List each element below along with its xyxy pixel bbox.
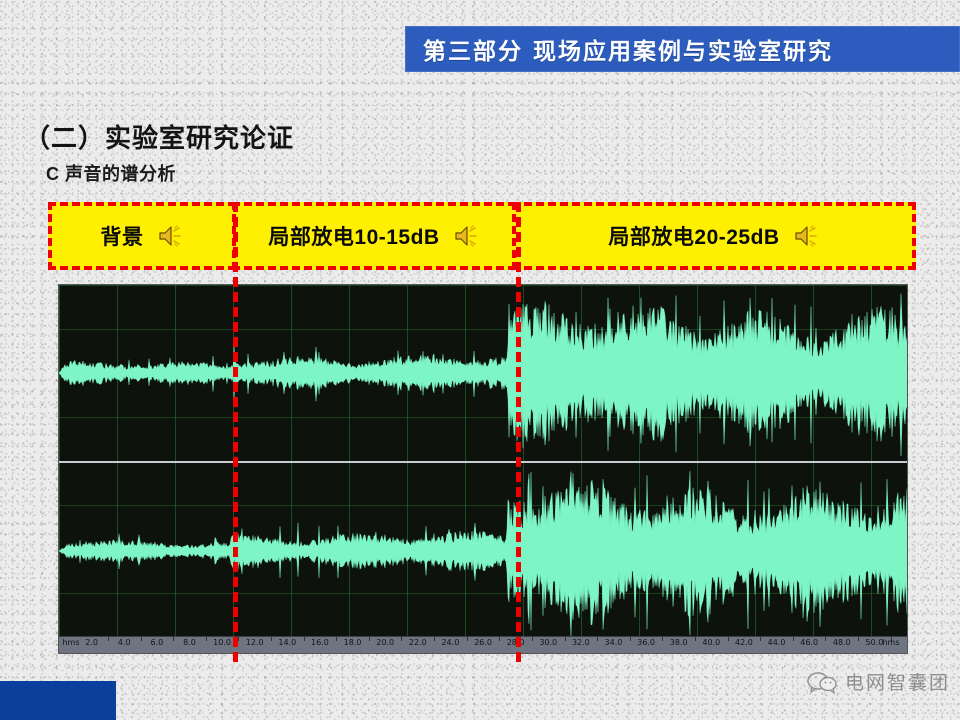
ruler-tick-mark (141, 637, 142, 641)
ruler-tick-mark (760, 637, 761, 641)
waveform-channel-right (59, 463, 907, 639)
waveform-display[interactable]: hms2.04.06.08.010.012.014.016.018.020.02… (58, 284, 908, 654)
ruler-unit-left: hms (62, 638, 79, 647)
ruler-tick-mark (662, 637, 663, 641)
segment-label-pd-10-15db[interactable]: 局部放电10-15dB (232, 202, 516, 270)
ruler-tick-label: 6.0 (150, 638, 163, 647)
segment-label-row: 背景 局部放电10-15dB 局部放电20-25dB (48, 202, 916, 270)
ruler-tick-label: 16.0 (311, 638, 329, 647)
speaker-icon[interactable] (454, 224, 480, 248)
segment-divider-2 (516, 202, 521, 662)
segment-label-text: 局部放电20-25dB (608, 221, 779, 251)
ruler-tick-mark (825, 637, 826, 641)
ruler-tick-mark (597, 637, 598, 641)
slide-subtitle: C 声音的谱分析 (46, 160, 176, 186)
speaker-icon[interactable] (794, 224, 820, 248)
segment-label-pd-20-25db[interactable]: 局部放电20-25dB (512, 202, 916, 270)
ruler-tick-label: 36.0 (637, 638, 655, 647)
ruler-tick-mark (565, 637, 566, 641)
speaker-icon[interactable] (158, 224, 184, 248)
ruler-tick-label: 42.0 (735, 638, 753, 647)
ruler-tick-mark (728, 637, 729, 641)
segment-divider-1 (233, 202, 238, 662)
ruler-tick-mark (271, 637, 272, 641)
ruler-tick-mark (401, 637, 402, 641)
ruler-tick-label: 50.0 (865, 638, 883, 647)
waveform-path-left (59, 285, 907, 461)
ruler-tick-mark (858, 637, 859, 641)
ruler-tick-label: 10.0 (213, 638, 231, 647)
ruler-tick-mark (532, 637, 533, 641)
ruler-tick-mark (336, 637, 337, 641)
ruler-tick-label: 34.0 (605, 638, 623, 647)
wechat-bubble-icon (807, 670, 837, 694)
ruler-tick-mark (467, 637, 468, 641)
ruler-tick-label: 44.0 (768, 638, 786, 647)
ruler-tick-mark (630, 637, 631, 641)
ruler-tick-mark (369, 637, 370, 641)
time-ruler[interactable]: hms2.04.06.08.010.012.014.016.018.020.02… (59, 636, 907, 653)
ruler-tick-label: 20.0 (376, 638, 394, 647)
ruler-tick-mark (173, 637, 174, 641)
segment-label-text: 背景 (101, 221, 144, 251)
ruler-tick-label: 40.0 (702, 638, 720, 647)
ruler-tick-label: 48.0 (833, 638, 851, 647)
ruler-tick-mark (304, 637, 305, 641)
ruler-tick-label: 38.0 (670, 638, 688, 647)
ruler-tick-label: 8.0 (183, 638, 196, 647)
segment-label-background[interactable]: 背景 (48, 202, 236, 270)
ruler-tick-mark (238, 637, 239, 641)
ruler-tick-label: 22.0 (409, 638, 427, 647)
ruler-tick-mark (206, 637, 207, 641)
ruler-tick-label: 26.0 (474, 638, 492, 647)
section-header-title: 第三部分 现场应用案例与实验室研究 (423, 32, 833, 66)
watermark: 电网智囊团 (807, 668, 950, 695)
ruler-tick-mark (695, 637, 696, 641)
section-header-band: 第三部分 现场应用案例与实验室研究 (405, 26, 960, 72)
footer-accent-block (0, 681, 116, 720)
ruler-tick-mark (108, 637, 109, 641)
watermark-text: 电网智囊团 (845, 668, 950, 695)
ruler-unit-right: hms (882, 638, 899, 647)
ruler-tick-label: 46.0 (800, 638, 818, 647)
ruler-tick-mark (499, 637, 500, 641)
ruler-tick-label: 12.0 (246, 638, 264, 647)
slide-title: （二）实验室研究论证 (24, 118, 294, 155)
ruler-tick-label: 4.0 (118, 638, 131, 647)
ruler-tick-label: 14.0 (278, 638, 296, 647)
waveform-channel-left (59, 285, 907, 461)
ruler-tick-label: 18.0 (344, 638, 362, 647)
ruler-tick-label: 30.0 (539, 638, 557, 647)
ruler-tick-label: 2.0 (85, 638, 98, 647)
ruler-tick-mark (793, 637, 794, 641)
segment-label-text: 局部放电10-15dB (268, 221, 439, 251)
ruler-tick-label: 24.0 (441, 638, 459, 647)
audio-analysis-frame: 背景 局部放电10-15dB 局部放电20-25dB (48, 202, 916, 662)
ruler-tick-mark (434, 637, 435, 641)
waveform-path-right (59, 463, 907, 639)
ruler-tick-label: 32.0 (572, 638, 590, 647)
